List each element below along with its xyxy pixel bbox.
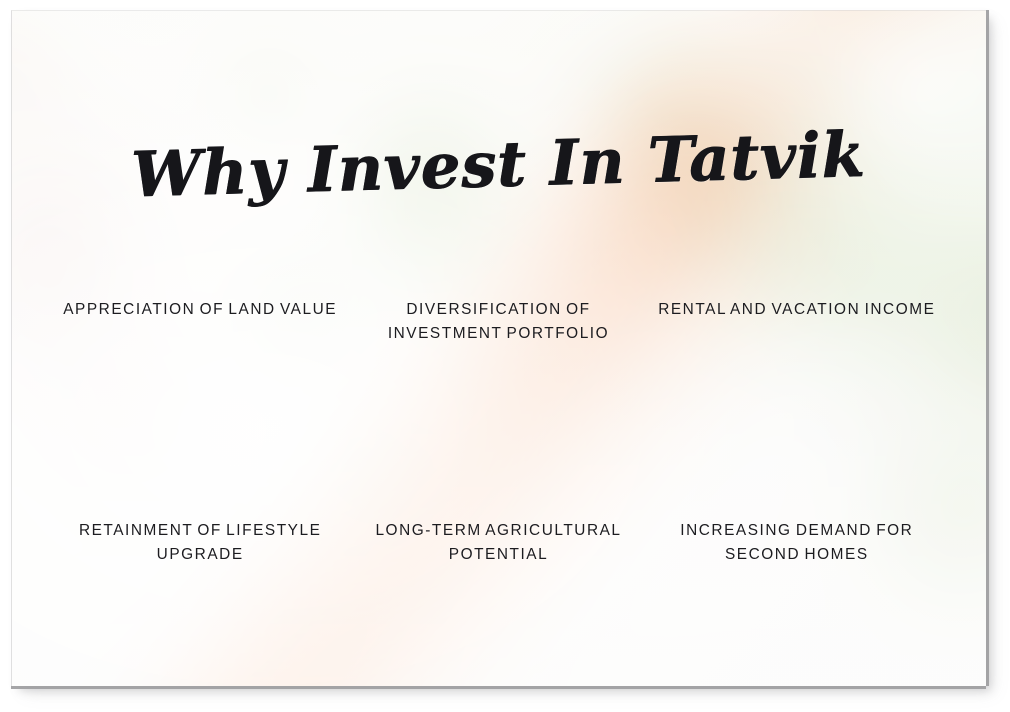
benefit-item-long-term-agricultural-potential: Long-Term Agricultural Potential	[349, 519, 647, 567]
slide-title: Why Invest In Tatvik	[11, 120, 986, 209]
benefits-row-bottom: Retainment of Lifestyle Upgrade Long-Ter…	[51, 519, 946, 567]
presentation-surface: Why Invest In Tatvik Appreciation of Lan…	[0, 0, 1010, 712]
slide-content: Why Invest In Tatvik Appreciation of Lan…	[11, 10, 986, 686]
benefit-item-appreciation-of-land-value: Appreciation of Land Value	[51, 298, 349, 346]
benefit-item-diversification-of-investment-portfolio: Diversification of Investment Portfolio	[349, 298, 647, 346]
benefit-item-retainment-of-lifestyle-upgrade: Retainment of Lifestyle Upgrade	[51, 519, 349, 567]
benefits-row-top: Appreciation of Land Value Diversificati…	[51, 298, 946, 346]
benefit-item-rental-and-vacation-income: Rental and Vacation Income	[648, 298, 946, 346]
slide-card: Why Invest In Tatvik Appreciation of Lan…	[11, 10, 986, 686]
benefits-grid: Appreciation of Land Value Diversificati…	[51, 298, 946, 567]
benefit-item-increasing-demand-for-second-homes: Increasing Demand for Second Homes	[648, 519, 946, 567]
